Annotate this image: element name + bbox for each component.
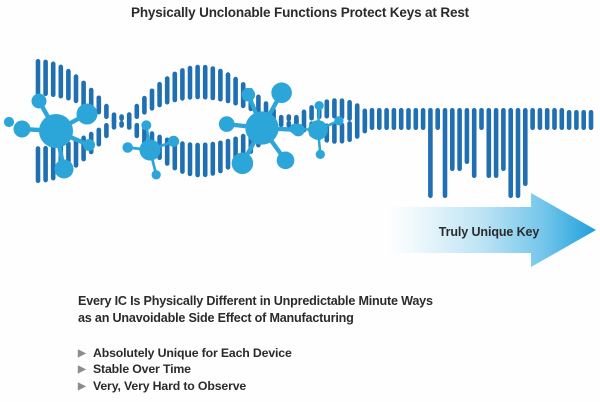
subheading-line-1: Every IC Is Physically Different in Unpr…	[78, 293, 548, 310]
list-item: ▶ Very, Very Hard to Observe	[78, 378, 548, 394]
triangle-bullet-icon: ▶	[78, 365, 93, 375]
list-item-label: Absolutely Unique for Each Device	[93, 345, 548, 361]
triangle-bullet-icon: ▶	[78, 382, 93, 392]
molecule	[122, 120, 179, 179]
page-title: Physically Unclonable Functions Protect …	[0, 5, 600, 20]
truly-unique-key-arrow	[385, 193, 596, 267]
list-item: ▶ Absolutely Unique for Each Device	[78, 345, 548, 361]
subheading-line-2: as an Unavoidable Side Effect of Manufac…	[78, 310, 548, 327]
triangle-bullet-icon: ▶	[78, 349, 93, 359]
list-item: ▶ Stable Over Time	[78, 361, 548, 377]
puf-dna-key-graphic	[0, 26, 600, 276]
subheading: Every IC Is Physically Different in Unpr…	[78, 293, 548, 326]
list-item-label: Very, Very Hard to Observe	[93, 378, 548, 394]
molecule	[4, 117, 14, 127]
bullet-list: ▶ Absolutely Unique for Each Device ▶ St…	[78, 345, 548, 394]
slide-canvas: Physically Unclonable Functions Protect …	[0, 0, 600, 402]
list-item-label: Stable Over Time	[93, 361, 548, 377]
